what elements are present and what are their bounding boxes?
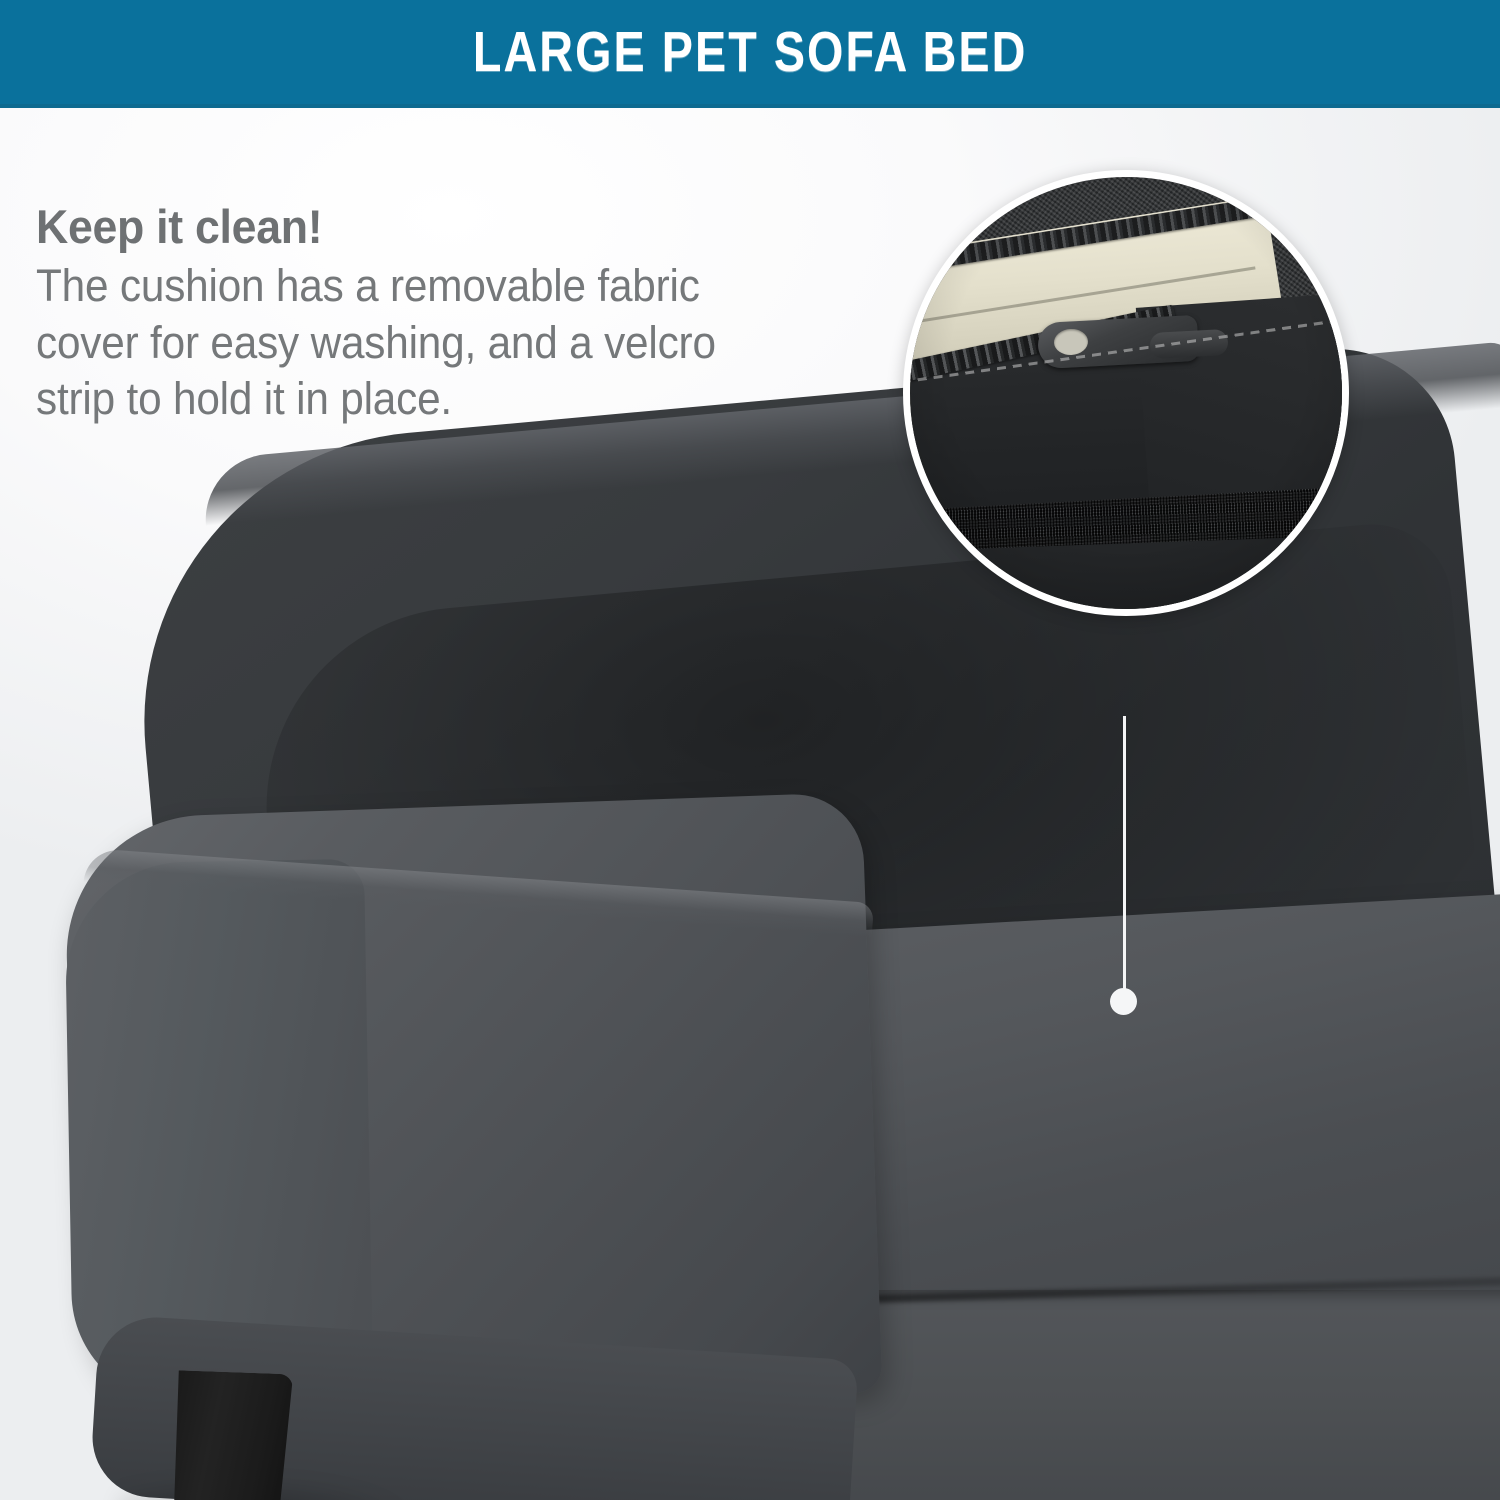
copy-body-line-3: strip to hold it in place.: [36, 371, 826, 428]
product-stage: Keep it clean! The cushion has a removab…: [0, 104, 1500, 1500]
callout-pointer-line: [1123, 716, 1126, 998]
banner-title: LARGE PET SOFA BED: [473, 24, 1028, 81]
copy-body-line-1: The cushion has a removable fabric: [36, 258, 826, 315]
product-marketing-image: LARGE PET SOFA BED: [0, 0, 1500, 1500]
copy-body: The cushion has a removable fabric cover…: [36, 258, 826, 428]
header-banner: LARGE PET SOFA BED: [0, 0, 1500, 108]
callout-pointer-dot: [1110, 988, 1137, 1015]
zipper-detail-callout: [903, 170, 1349, 616]
marketing-copy-block: Keep it clean! The cushion has a removab…: [36, 202, 876, 428]
copy-heading: Keep it clean!: [36, 202, 834, 252]
copy-body-line-2: cover for easy washing, and a velcro: [36, 315, 826, 372]
